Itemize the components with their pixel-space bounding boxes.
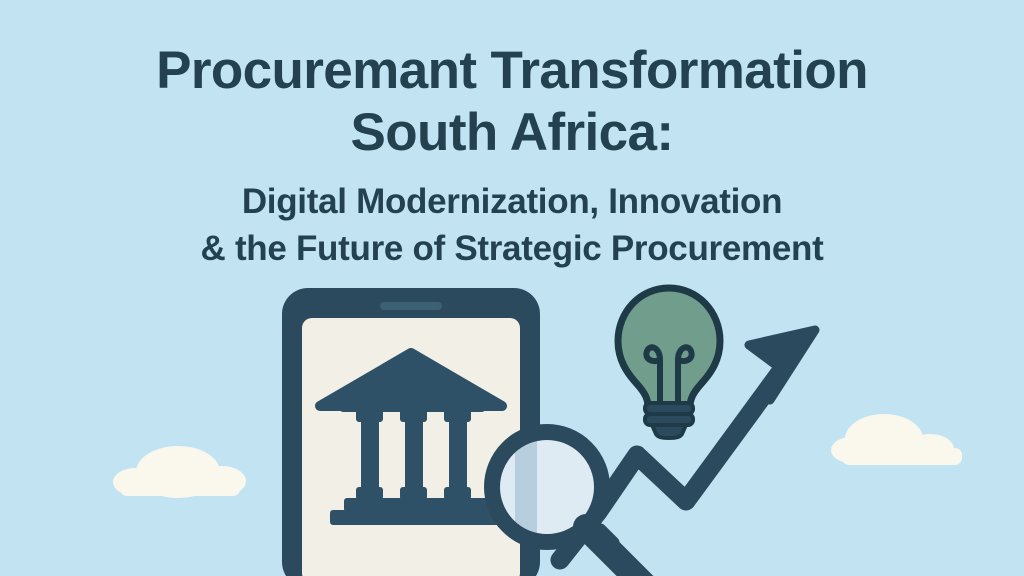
illustration-artwork	[0, 0, 1024, 576]
poster-canvas: Procuremant Transformation South Africa:…	[0, 0, 1024, 576]
phone-speaker-notch	[380, 302, 442, 310]
